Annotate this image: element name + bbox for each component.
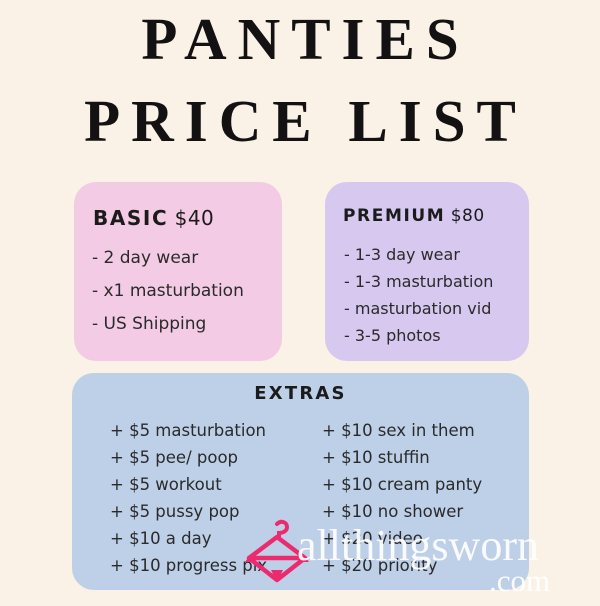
list-item: + $5 pussy pop bbox=[110, 498, 267, 525]
list-item: + $5 masturbation bbox=[110, 417, 267, 444]
premium-price-label: $80 bbox=[451, 206, 485, 226]
list-item: - 1-3 masturbation bbox=[344, 268, 493, 295]
list-item: + $20 priority bbox=[322, 552, 482, 579]
extras-left-column: + $5 masturbation + $5 pee/ poop + $5 wo… bbox=[110, 417, 267, 579]
premium-card-heading: PREMIUM $80 bbox=[343, 206, 485, 226]
extras-columns: + $5 masturbation + $5 pee/ poop + $5 wo… bbox=[72, 417, 529, 582]
premium-tier-card: PREMIUM $80 - 1-3 day wear - 1-3 masturb… bbox=[325, 182, 529, 361]
list-item: - 2 day wear bbox=[92, 242, 244, 275]
basic-price-label: $40 bbox=[175, 206, 215, 230]
list-item: + $5 pee/ poop bbox=[110, 444, 267, 471]
list-item: - masturbation vid bbox=[344, 295, 493, 322]
list-item: + $5 workout bbox=[110, 471, 267, 498]
basic-tier-label: BASIC bbox=[93, 206, 168, 230]
extras-heading: EXTRAS bbox=[72, 383, 529, 404]
list-item: + $10 sex in them bbox=[322, 417, 482, 444]
list-item: - 1-3 day wear bbox=[344, 241, 493, 268]
basic-feature-list: - 2 day wear - x1 masturbation - US Ship… bbox=[92, 242, 244, 341]
list-item: + $10 cream panty bbox=[322, 471, 482, 498]
list-item: - US Shipping bbox=[92, 308, 244, 341]
premium-tier-label: PREMIUM bbox=[343, 206, 445, 226]
list-item: + $10 progress pix bbox=[110, 552, 267, 579]
list-item: + $10 a day bbox=[110, 525, 267, 552]
basic-card-heading: BASIC $40 bbox=[93, 206, 214, 230]
page-title-line-2: PRICE LIST bbox=[0, 85, 600, 157]
list-item: + $10 no shower bbox=[322, 498, 482, 525]
list-item: + $20 video bbox=[322, 525, 482, 552]
list-item: - x1 masturbation bbox=[92, 275, 244, 308]
premium-feature-list: - 1-3 day wear - 1-3 masturbation - mast… bbox=[344, 241, 493, 349]
page-title-line-1: PANTIES bbox=[0, 3, 600, 75]
extras-card: EXTRAS + $5 masturbation + $5 pee/ poop … bbox=[72, 373, 529, 590]
list-item: - 3-5 photos bbox=[344, 322, 493, 349]
basic-tier-card: BASIC $40 - 2 day wear - x1 masturbation… bbox=[74, 182, 282, 361]
list-item: + $10 stuffin bbox=[322, 444, 482, 471]
extras-right-column: + $10 sex in them + $10 stuffin + $10 cr… bbox=[322, 417, 482, 579]
